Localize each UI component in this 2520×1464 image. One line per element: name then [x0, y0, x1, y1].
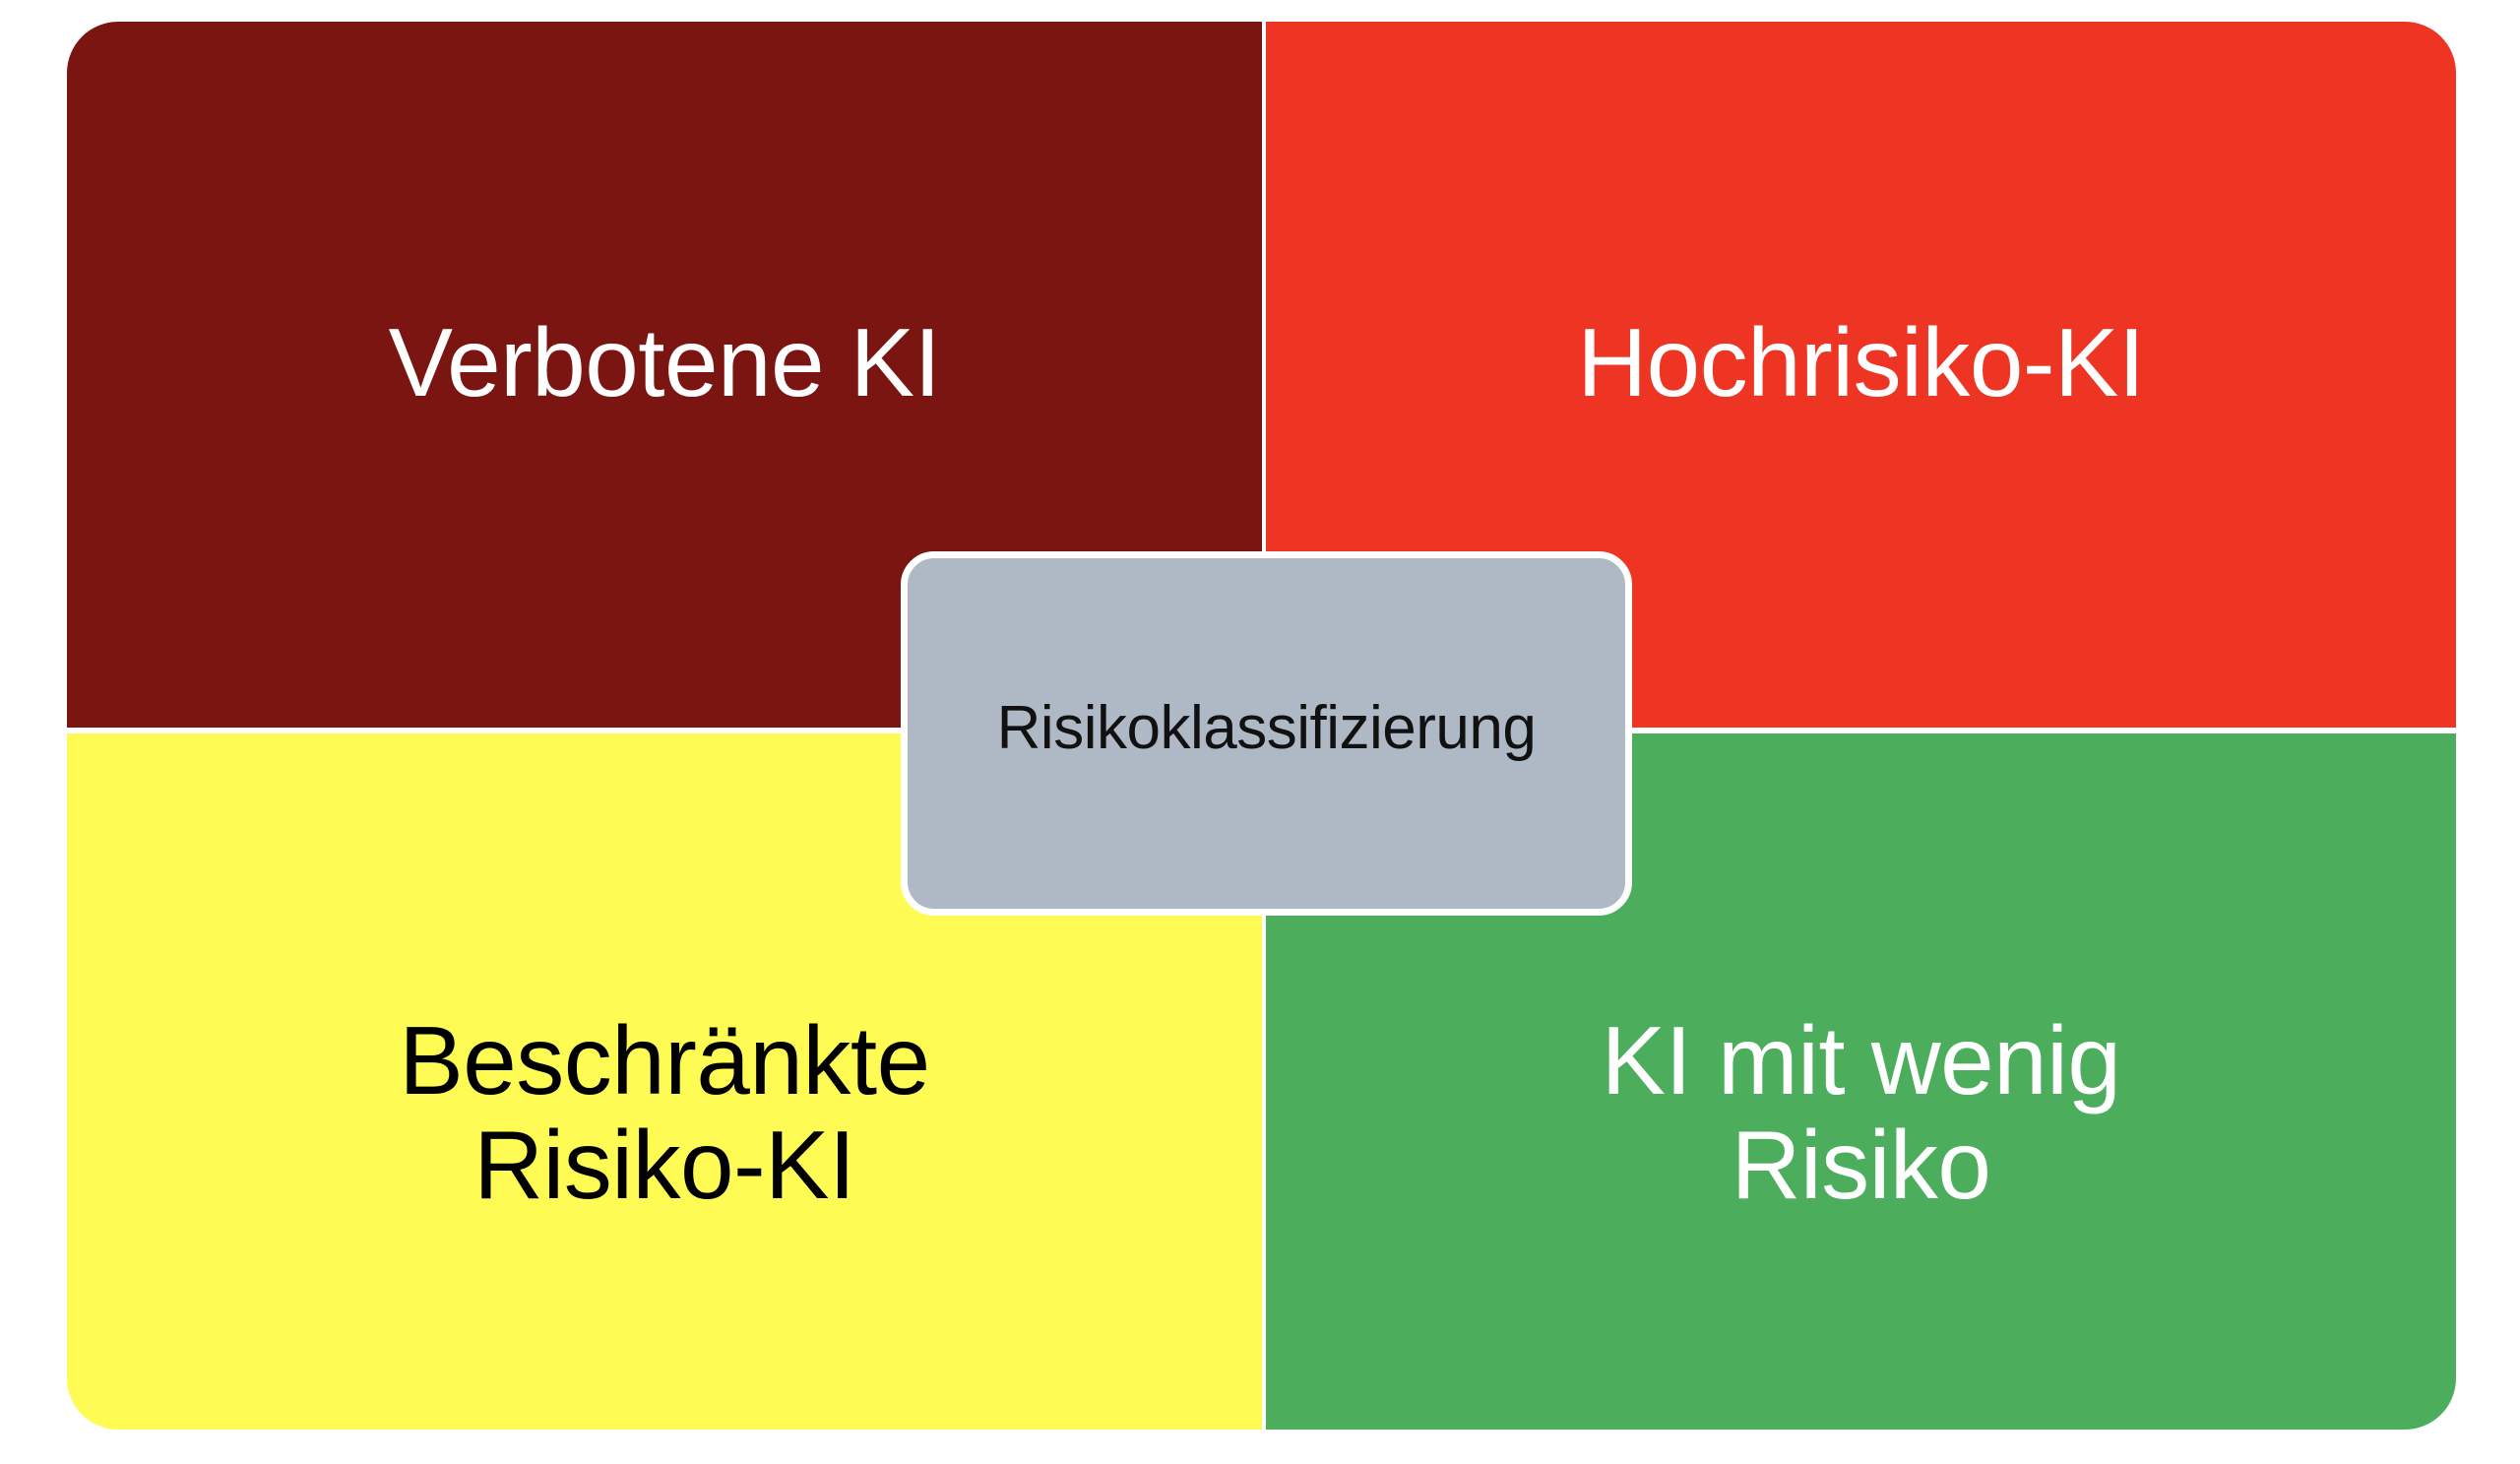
risk-classification-matrix: Verbotene KI Hochrisiko-KI Beschränkte R… [0, 0, 2520, 1464]
quadrant-high-risk-ai-label: Hochrisiko-KI [1538, 311, 2183, 415]
quadrant-prohibited-ai-label: Verbotene KI [349, 311, 980, 415]
quadrant-minimal-risk-ai-label: KI mit wenig Risiko [1562, 1009, 2161, 1218]
quadrant-limited-risk-ai-label: Beschränkte Risiko-KI [359, 1009, 969, 1218]
center-hub[interactable]: Risikoklassifizierung [901, 551, 1632, 916]
center-hub-label: Risikoklassifizierung [997, 693, 1537, 763]
